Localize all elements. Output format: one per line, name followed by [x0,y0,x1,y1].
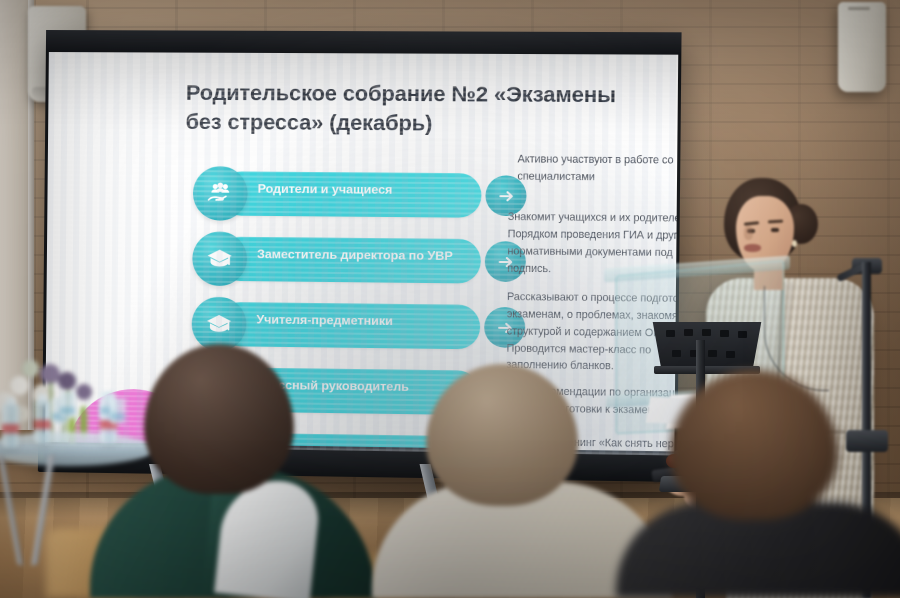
list-item[interactable]: Заместитель директора по УВР [192,231,518,293]
graduation-cap-icon [192,231,247,286]
display-bezel-top [46,30,682,55]
wall-speaker [838,2,886,92]
presentation-room-scene: Родительское собрание №2 «Экзамены без с… [0,0,900,598]
presenter-nose [744,226,753,240]
list-item-label: Заместитель директора по УВР [257,232,461,278]
list-item[interactable]: Родители и учащиеся [193,166,519,227]
list-item-label: Учителя-предметники [256,297,460,344]
audience-member [386,386,656,598]
audience-member [108,368,358,598]
list-item-label: Родители и учащиеся [257,167,461,213]
audience-head [426,364,578,506]
water-bottle[interactable] [34,400,51,444]
drinking-glass[interactable] [60,392,75,418]
slide-title: Родительское собрание №2 «Экзамены без с… [186,79,651,139]
water-bottle[interactable] [2,404,19,448]
earring [792,240,797,247]
description-text: Активно участвуют в работе со специалист… [508,151,678,186]
audience-member [636,402,900,598]
presenter-mouth [744,244,761,252]
people-in-hand-icon [193,166,248,221]
